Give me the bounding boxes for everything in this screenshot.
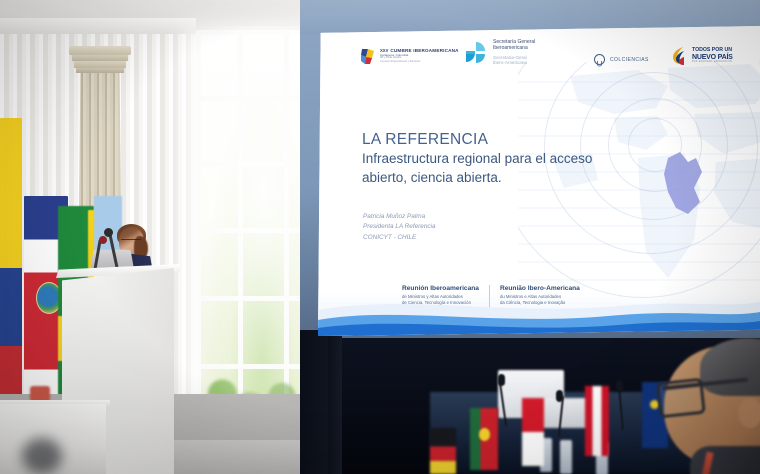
speaker-glasses — [121, 239, 141, 245]
colciencias-icon — [594, 54, 605, 65]
desk-flag-monaco — [522, 398, 544, 466]
cumbre-line4: Juventud, Emprendimiento y Educación — [380, 61, 459, 63]
podium-microphone-head — [104, 228, 113, 237]
colciencias-logo: COLCIENCIAS — [594, 54, 649, 65]
cumbre-line3: 28 y 29 de octubre — [380, 57, 459, 60]
slide-headline: LA REFERENCIA Infraestructura regional p… — [362, 130, 662, 187]
podium-microphone-head-2 — [99, 236, 107, 244]
presentation-photo-scene: XXV CUMBRE IBEROAMERICANA Cartagena, Col… — [0, 0, 760, 474]
slide-content: XXV CUMBRE IBEROAMERICANA Cartagena, Col… — [318, 26, 760, 336]
foreground-blur-object — [22, 438, 62, 474]
desk-flag-peru — [585, 386, 609, 456]
column-capital — [69, 46, 131, 55]
projection-screen: XXV CUMBRE IBEROAMERICANA Cartagena, Col… — [318, 26, 760, 336]
table-microphone-head-2 — [556, 390, 563, 402]
segib-line2: Iberoamericana — [493, 46, 535, 52]
slide-subtitle-line2: abierto, ciencia abierta. — [362, 169, 662, 187]
colciencias-label: COLCIENCIAS — [610, 57, 649, 63]
table-microphone-head-1 — [498, 374, 505, 386]
cumbre-iberoamericana-logo: XXV CUMBRE IBEROAMERICANA Cartagena, Col… — [360, 48, 459, 65]
nuevo-pais-line1: TODOS POR UN — [692, 48, 733, 54]
segib-line4: Ibero-Americana — [493, 60, 535, 65]
nuevo-pais-line3: PAZ EQUIDAD EDUCACIÓN — [692, 61, 733, 64]
slide-byline: Patricia Muñoz Palma Presidenta LA Refer… — [363, 212, 436, 243]
byline-name: Patricia Muñoz Palma — [363, 212, 436, 222]
nuevo-pais-icon — [670, 46, 687, 66]
desk-flag-germany — [430, 428, 456, 474]
byline-role: Presidenta LA Referencia — [363, 222, 436, 232]
todos-por-un-nuevo-pais-logo: TODOS POR UN NUEVO PAÍS PAZ EQUIDAD EDUC… — [670, 46, 733, 66]
desk-flag-portugal-emblem — [479, 428, 490, 441]
stage-side — [300, 330, 330, 474]
column-neck — [76, 68, 124, 73]
byline-org: CONICYT - CHILE — [363, 233, 436, 243]
slide-logo-bar: XXV CUMBRE IBEROAMERICANA Cartagena, Col… — [318, 26, 760, 92]
cumbre-icon — [360, 48, 375, 65]
delegate-ear — [738, 398, 760, 428]
slide-subtitle-line1: Infraestructura regional para el acceso — [362, 150, 662, 168]
slide-wave-graphic — [318, 280, 760, 336]
water-bottle-2 — [560, 440, 572, 474]
segib-logo: Secretaría General Iberoamericana Secret… — [466, 40, 535, 66]
flag-colombia — [0, 118, 22, 418]
column-capital-ring2 — [74, 61, 126, 68]
table-microphone-head-3 — [616, 380, 623, 392]
segib-pinwheel-icon — [466, 41, 488, 65]
slide-title: LA REFERENCIA — [362, 130, 662, 149]
stage-left-edge — [328, 330, 342, 474]
delegate-shoulders — [690, 446, 760, 474]
curtain-rail — [0, 18, 196, 34]
